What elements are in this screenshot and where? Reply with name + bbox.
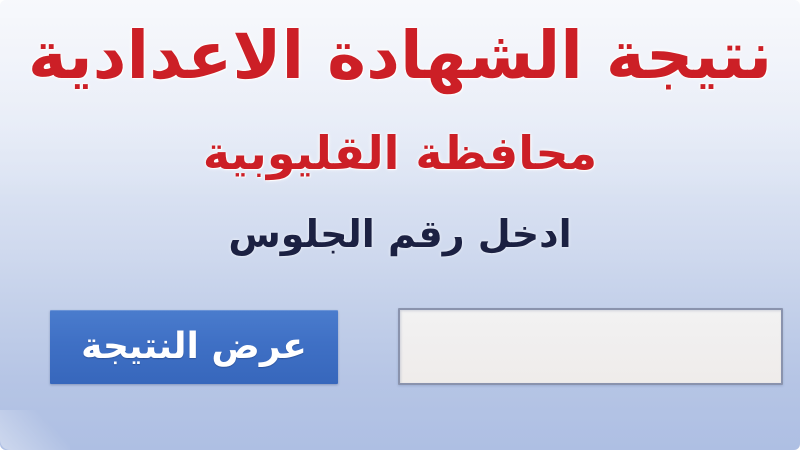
page-title: نتيجة الشهادة الاعدادية xyxy=(0,14,800,98)
seat-number-instruction-label: ادخل رقم الجلوس xyxy=(0,207,800,261)
result-lookup-form: عرض النتيجة xyxy=(0,306,800,392)
view-result-button[interactable]: عرض النتيجة xyxy=(50,310,338,384)
page-subtitle-governorate: محافظة القليوبية xyxy=(0,122,800,184)
seat-number-input[interactable] xyxy=(398,308,783,385)
result-lookup-page: نتيجة الشهادة الاعدادية محافظة القليوبية… xyxy=(0,0,800,450)
background-corner-glow xyxy=(0,410,70,450)
